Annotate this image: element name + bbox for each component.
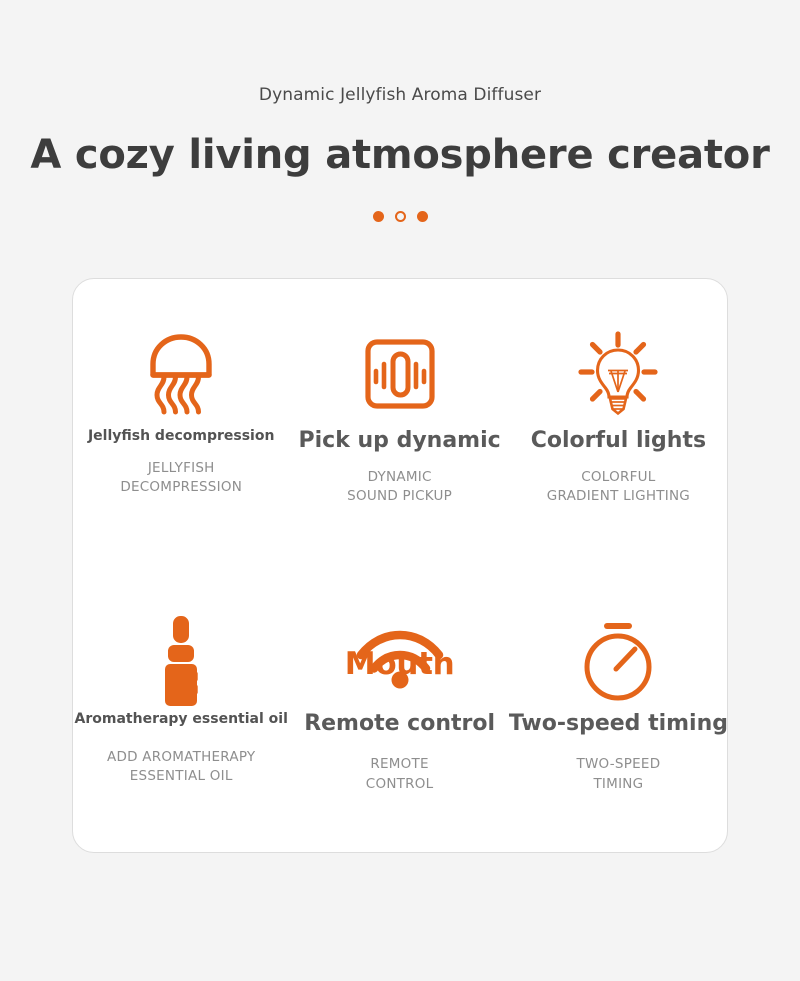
feature-item-pick-up-dynamic[interactable]: Pick up dynamic DYNAMIC SOUND PICKUP <box>290 278 508 566</box>
feature-item-colorful-lights[interactable]: Colorful lights COLORFUL GRADIENT LIGHTI… <box>509 278 728 566</box>
feature-subtitle: ADD AROMATHERAPY ESSENTIAL OIL <box>107 748 255 786</box>
feature-item-aromatherapy-essential-oil[interactable]: Aromatherapy essential oil ADD AROMATHER… <box>72 565 290 853</box>
feature-grid: Jellyfish decompression JELLYFISH DECOMP… <box>72 278 728 853</box>
feature-subtitle: DYNAMIC SOUND PICKUP <box>347 468 452 506</box>
feature-title: Remote control <box>304 711 495 737</box>
stopwatch-icon <box>578 613 658 709</box>
carousel-dot-1[interactable] <box>373 211 384 222</box>
jellyfish-icon <box>144 326 218 422</box>
feature-item-jellyfish-decompression[interactable]: Jellyfish decompression JELLYFISH DECOMP… <box>72 278 290 566</box>
page-title: A cozy living atmosphere creator <box>0 133 800 178</box>
feature-title: Pick up dynamic <box>299 428 501 454</box>
feature-title: Two-speed timing <box>509 711 728 737</box>
feature-subtitle: TWO-SPEED TIMING <box>576 755 660 793</box>
feature-title: Aromatherapy essential oil <box>75 711 288 728</box>
sound-pickup-icon <box>364 326 436 422</box>
feature-subtitle: COLORFUL GRADIENT LIGHTING <box>547 468 690 506</box>
feature-title: Jellyfish decompression <box>88 428 274 445</box>
feature-title: Colorful lights <box>531 428 706 454</box>
dropper-bottle-icon <box>158 613 204 709</box>
feature-item-two-speed-timing[interactable]: Two-speed timing TWO-SPEED TIMING <box>509 565 728 853</box>
carousel-dot-2[interactable] <box>395 211 406 222</box>
carousel-dots[interactable] <box>0 210 800 224</box>
carousel-dot-3[interactable] <box>417 211 428 222</box>
feature-subtitle: REMOTE CONTROL <box>366 755 434 793</box>
feature-subtitle: JELLYFISH DECOMPRESSION <box>120 459 242 497</box>
wifi-overlay-word: Mouth <box>345 649 455 680</box>
page-header: Dynamic Jellyfish Aroma Diffuser A cozy … <box>0 0 800 224</box>
feature-item-remote-control[interactable]: Mouth Remote control REMOTE CONTROL <box>290 565 508 853</box>
product-eyebrow: Dynamic Jellyfish Aroma Diffuser <box>0 84 800 106</box>
wifi-signal-icon: Mouth <box>354 613 446 709</box>
lightbulb-icon <box>575 326 661 422</box>
